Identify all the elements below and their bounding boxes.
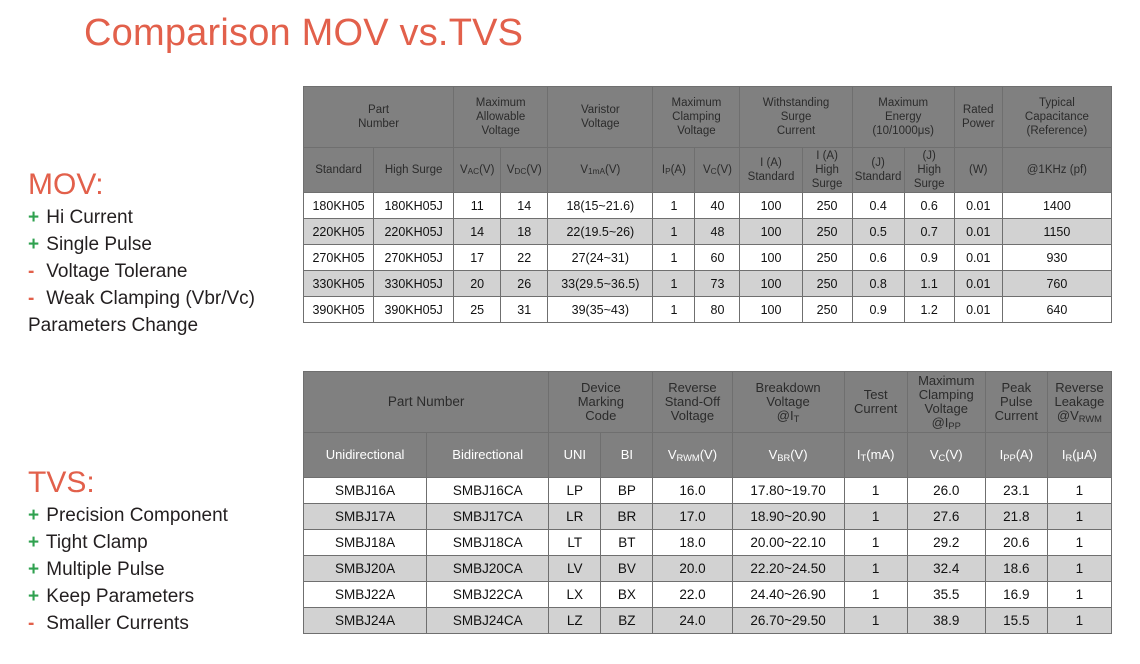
table-cell: 24.40~26.90 [732, 582, 844, 608]
tvs-bullet-item: + Keep Parameters [28, 583, 296, 610]
tvs-sub-header-cell: UNI [549, 433, 601, 478]
table-cell: 930 [1002, 245, 1111, 271]
mov-sub-header-cell: VC(V) [695, 148, 740, 193]
table-cell: 18(15~21.6) [548, 193, 653, 219]
table-cell: SMBJ24A [304, 608, 427, 634]
table-cell: 100 [740, 271, 802, 297]
table-cell: 27(24~31) [548, 245, 653, 271]
plus-icon: + [28, 502, 41, 529]
table-cell: 1 [844, 530, 907, 556]
mov-spec-table: PartNumberMaximumAllowableVoltageVaristo… [303, 86, 1112, 323]
table-cell: 1 [653, 245, 695, 271]
table-cell: SMBJ22A [304, 582, 427, 608]
tvs-bullet-item: + Multiple Pulse [28, 556, 296, 583]
mov-bullet-label: Weak Clamping (Vbr/Vc) [41, 288, 255, 309]
table-cell: 1 [1047, 556, 1111, 582]
mov-group-header-cell: WithstandingSurgeCurrent [740, 87, 852, 148]
mov-sub-header-cell: I (A)Standard [740, 148, 802, 193]
table-cell: 1 [844, 478, 907, 504]
table-cell: 22 [501, 245, 548, 271]
table-cell: SMBJ18CA [427, 530, 549, 556]
table-cell: 26.0 [907, 478, 985, 504]
table-cell: 1 [844, 556, 907, 582]
table-row: SMBJ24ASMBJ24CALZBZ24.026.70~29.50138.91… [304, 608, 1112, 634]
tvs-group-header-cell: TestCurrent [844, 372, 907, 433]
tvs-bullet-item: + Precision Component [28, 502, 296, 529]
tvs-heading: TVS: [28, 466, 296, 500]
table-cell: SMBJ20A [304, 556, 427, 582]
table-cell: BR [601, 504, 653, 530]
tvs-group-header-cell: BreakdownVoltage@IT [732, 372, 844, 433]
mov-group-header-cell: MaximumClampingVoltage [653, 87, 740, 148]
table-cell: 0.01 [954, 271, 1002, 297]
mov-sub-header-cell: @1KHz (pf) [1002, 148, 1111, 193]
mov-sub-header-cell: (J)Standard [852, 148, 904, 193]
tvs-bullet-label: Smaller Currents [41, 613, 189, 634]
table-cell: 1 [844, 582, 907, 608]
mov-group-header-cell: RatedPower [954, 87, 1002, 148]
table-cell: 220KH05J [374, 219, 454, 245]
table-cell: 80 [695, 297, 740, 323]
table-cell: 250 [802, 271, 852, 297]
table-cell: 27.6 [907, 504, 985, 530]
table-cell: 20.00~22.10 [732, 530, 844, 556]
table-cell: 1 [844, 608, 907, 634]
table-cell: 17 [454, 245, 501, 271]
table-cell: 1 [653, 271, 695, 297]
table-cell: 0.9 [904, 245, 954, 271]
tvs-group-header-cell: Part Number [304, 372, 549, 433]
table-cell: 180KH05J [374, 193, 454, 219]
table-cell: 0.6 [852, 245, 904, 271]
tvs-sub-header-cell: BI [601, 433, 653, 478]
table-cell: 1 [844, 504, 907, 530]
table-cell: 17.0 [653, 504, 732, 530]
table-cell: 22.0 [653, 582, 732, 608]
mov-sub-header-cell: High Surge [374, 148, 454, 193]
table-cell: SMBJ17A [304, 504, 427, 530]
mov-group-header-cell: MaximumAllowableVoltage [454, 87, 548, 148]
table-cell: 1 [653, 219, 695, 245]
tvs-sub-header-row: UnidirectionalBidirectionalUNIBIVRWM(V)V… [304, 433, 1112, 478]
table-cell: BT [601, 530, 653, 556]
table-cell: BZ [601, 608, 653, 634]
table-cell: SMBJ20CA [427, 556, 549, 582]
mov-bullet-label: Parameters Change [28, 315, 198, 336]
tvs-group-header-row: Part NumberDeviceMarkingCodeReverseStand… [304, 372, 1112, 433]
tvs-summary-block: TVS: + Precision Component+ Tight Clamp+… [28, 466, 296, 637]
table-cell: 100 [740, 297, 802, 323]
table-cell: 1 [1047, 530, 1111, 556]
mov-sub-header-row: StandardHigh SurgeVAC(V)VDC(V)V1mA(V)IP(… [304, 148, 1112, 193]
table-cell: 24.0 [653, 608, 732, 634]
mov-heading: MOV: [28, 168, 296, 202]
tvs-table-body: SMBJ16ASMBJ16CALPBP16.017.80~19.70126.02… [304, 478, 1112, 634]
mov-table-body: 180KH05180KH05J111418(15~21.6)1401002500… [304, 193, 1112, 323]
mov-bullet-item: + Single Pulse [28, 231, 296, 258]
tvs-sub-header-cell: VRWM(V) [653, 433, 732, 478]
mov-summary-block: MOV: + Hi Current+ Single Pulse- Voltage… [28, 168, 296, 339]
table-cell: 390KH05 [304, 297, 374, 323]
tvs-sub-header-cell: Bidirectional [427, 433, 549, 478]
mov-bullet-label: Single Pulse [41, 234, 152, 255]
table-cell: 1 [1047, 478, 1111, 504]
table-cell: 38.9 [907, 608, 985, 634]
tvs-sub-header-cell: VC(V) [907, 433, 985, 478]
table-cell: 26 [501, 271, 548, 297]
table-cell: SMBJ22CA [427, 582, 549, 608]
table-cell: LP [549, 478, 601, 504]
tvs-group-header-cell: PeakPulseCurrent [985, 372, 1047, 433]
table-cell: 60 [695, 245, 740, 271]
tvs-sub-header-cell: IPP(A) [985, 433, 1047, 478]
table-cell: 1 [1047, 582, 1111, 608]
mov-sub-header-cell: VDC(V) [501, 148, 548, 193]
plus-icon: + [28, 204, 41, 231]
table-cell: 0.6 [904, 193, 954, 219]
tvs-sub-header-cell: IR(μA) [1047, 433, 1111, 478]
table-cell: 23.1 [985, 478, 1047, 504]
table-cell: 20 [454, 271, 501, 297]
tvs-spec-table: Part NumberDeviceMarkingCodeReverseStand… [303, 371, 1112, 634]
plus-icon: + [28, 583, 41, 610]
table-cell: 1 [653, 297, 695, 323]
table-cell: SMBJ24CA [427, 608, 549, 634]
mov-bullet-item: Parameters Change [28, 312, 296, 339]
table-cell: 1.2 [904, 297, 954, 323]
mov-bullet-label: Voltage Tolerane [41, 261, 188, 282]
mov-group-header-cell: VaristorVoltage [548, 87, 653, 148]
table-cell: 29.2 [907, 530, 985, 556]
table-cell: 20.0 [653, 556, 732, 582]
table-cell: 22.20~24.50 [732, 556, 844, 582]
table-row: SMBJ16ASMBJ16CALPBP16.017.80~19.70126.02… [304, 478, 1112, 504]
table-cell: 0.01 [954, 245, 1002, 271]
table-cell: 390KH05J [374, 297, 454, 323]
mov-sub-header-cell: (W) [954, 148, 1002, 193]
table-cell: 22(19.5~26) [548, 219, 653, 245]
mov-sub-header-cell: I (A)HighSurge [802, 148, 852, 193]
table-cell: 16.9 [985, 582, 1047, 608]
plus-icon: + [28, 231, 41, 258]
mov-group-header-cell: PartNumber [304, 87, 454, 148]
tvs-sub-header-cell: Unidirectional [304, 433, 427, 478]
table-cell: 39(35~43) [548, 297, 653, 323]
minus-icon: - [28, 610, 41, 637]
table-cell: 220KH05 [304, 219, 374, 245]
table-row: SMBJ20ASMBJ20CALVBV20.022.20~24.50132.41… [304, 556, 1112, 582]
mov-sub-header-cell: Standard [304, 148, 374, 193]
table-cell: LT [549, 530, 601, 556]
mov-sub-header-cell: V1mA(V) [548, 148, 653, 193]
table-cell: 0.5 [852, 219, 904, 245]
table-cell: 330KH05 [304, 271, 374, 297]
table-cell: 14 [454, 219, 501, 245]
mov-sub-header-cell: IP(A) [653, 148, 695, 193]
table-cell: 100 [740, 219, 802, 245]
table-cell: 16.0 [653, 478, 732, 504]
table-cell: 40 [695, 193, 740, 219]
mov-table-head: PartNumberMaximumAllowableVoltageVaristo… [304, 87, 1112, 193]
table-cell: 31 [501, 297, 548, 323]
table-cell: 250 [802, 245, 852, 271]
table-cell: 18.0 [653, 530, 732, 556]
table-cell: BX [601, 582, 653, 608]
table-cell: 33(29.5~36.5) [548, 271, 653, 297]
table-cell: LZ [549, 608, 601, 634]
tvs-bullet-label: Keep Parameters [41, 586, 194, 607]
tvs-sub-header-cell: IT(mA) [844, 433, 907, 478]
tvs-table-head: Part NumberDeviceMarkingCodeReverseStand… [304, 372, 1112, 478]
table-cell: 1 [1047, 608, 1111, 634]
tvs-bullet-label: Precision Component [41, 505, 228, 526]
mov-sub-header-cell: VAC(V) [454, 148, 501, 193]
table-cell: 18.90~20.90 [732, 504, 844, 530]
table-cell: 760 [1002, 271, 1111, 297]
table-cell: BP [601, 478, 653, 504]
table-row: 330KH05330KH05J202633(29.5~36.5)17310025… [304, 271, 1112, 297]
plus-icon: + [28, 529, 41, 556]
table-cell: 1150 [1002, 219, 1111, 245]
table-cell: 640 [1002, 297, 1111, 323]
tvs-sub-header-cell: VBR(V) [732, 433, 844, 478]
table-cell: BV [601, 556, 653, 582]
tvs-bullet-label: Multiple Pulse [41, 559, 165, 580]
mov-group-header-row: PartNumberMaximumAllowableVoltageVaristo… [304, 87, 1112, 148]
minus-icon: - [28, 285, 41, 312]
mov-bullet-list: + Hi Current+ Single Pulse- Voltage Tole… [28, 204, 296, 339]
table-cell: 26.70~29.50 [732, 608, 844, 634]
table-cell: 100 [740, 193, 802, 219]
mov-bullet-item: + Hi Current [28, 204, 296, 231]
table-row: SMBJ22ASMBJ22CALXBX22.024.40~26.90135.51… [304, 582, 1112, 608]
table-row: SMBJ18ASMBJ18CALTBT18.020.00~22.10129.22… [304, 530, 1112, 556]
table-cell: 0.01 [954, 193, 1002, 219]
table-cell: 1400 [1002, 193, 1111, 219]
table-cell: LX [549, 582, 601, 608]
table-row: SMBJ17ASMBJ17CALRBR17.018.90~20.90127.62… [304, 504, 1112, 530]
table-row: 270KH05270KH05J172227(24~31)1601002500.6… [304, 245, 1112, 271]
table-cell: 11 [454, 193, 501, 219]
table-cell: 330KH05J [374, 271, 454, 297]
table-cell: 32.4 [907, 556, 985, 582]
table-cell: 250 [802, 297, 852, 323]
tvs-group-header-cell: ReverseLeakage@VRWM [1047, 372, 1111, 433]
mov-bullet-label: Hi Current [41, 207, 133, 228]
table-cell: 100 [740, 245, 802, 271]
tvs-group-header-cell: DeviceMarkingCode [549, 372, 653, 433]
table-cell: 0.7 [904, 219, 954, 245]
tvs-group-header-cell: MaximumClampingVoltage@IPP [907, 372, 985, 433]
table-cell: 250 [802, 219, 852, 245]
table-cell: 0.4 [852, 193, 904, 219]
mov-group-header-cell: MaximumEnergy(10/1000μs) [852, 87, 954, 148]
table-cell: 250 [802, 193, 852, 219]
tvs-bullet-list: + Precision Component+ Tight Clamp+ Mult… [28, 502, 296, 637]
table-cell: 1 [1047, 504, 1111, 530]
table-cell: 20.6 [985, 530, 1047, 556]
table-cell: LR [549, 504, 601, 530]
mov-bullet-item: - Weak Clamping (Vbr/Vc) [28, 285, 296, 312]
table-cell: 0.8 [852, 271, 904, 297]
tvs-bullet-label: Tight Clamp [41, 532, 148, 553]
table-cell: 0.9 [852, 297, 904, 323]
table-cell: 0.01 [954, 219, 1002, 245]
table-row: 220KH05220KH05J141822(19.5~26)1481002500… [304, 219, 1112, 245]
table-cell: 25 [454, 297, 501, 323]
table-cell: 18 [501, 219, 548, 245]
table-cell: 0.01 [954, 297, 1002, 323]
mov-group-header-cell: TypicalCapacitance(Reference) [1002, 87, 1111, 148]
table-cell: 270KH05 [304, 245, 374, 271]
table-cell: SMBJ17CA [427, 504, 549, 530]
table-cell: 17.80~19.70 [732, 478, 844, 504]
table-cell: 18.6 [985, 556, 1047, 582]
table-cell: 35.5 [907, 582, 985, 608]
table-cell: 15.5 [985, 608, 1047, 634]
table-cell: 73 [695, 271, 740, 297]
tvs-bullet-item: + Tight Clamp [28, 529, 296, 556]
table-cell: 1.1 [904, 271, 954, 297]
mov-sub-header-cell: (J)HighSurge [904, 148, 954, 193]
mov-bullet-item: - Voltage Tolerane [28, 258, 296, 285]
table-cell: 14 [501, 193, 548, 219]
plus-icon: + [28, 556, 41, 583]
table-row: 390KH05390KH05J253139(35~43)1801002500.9… [304, 297, 1112, 323]
table-cell: 270KH05J [374, 245, 454, 271]
page-title: Comparison MOV vs.TVS [84, 12, 523, 55]
table-cell: LV [549, 556, 601, 582]
tvs-group-header-cell: ReverseStand-OffVoltage [653, 372, 732, 433]
table-cell: 48 [695, 219, 740, 245]
table-cell: 180KH05 [304, 193, 374, 219]
table-cell: 21.8 [985, 504, 1047, 530]
table-row: 180KH05180KH05J111418(15~21.6)1401002500… [304, 193, 1112, 219]
tvs-bullet-item: - Smaller Currents [28, 610, 296, 637]
table-cell: 1 [653, 193, 695, 219]
table-cell: SMBJ16CA [427, 478, 549, 504]
minus-icon: - [28, 258, 41, 285]
table-cell: SMBJ16A [304, 478, 427, 504]
table-cell: SMBJ18A [304, 530, 427, 556]
